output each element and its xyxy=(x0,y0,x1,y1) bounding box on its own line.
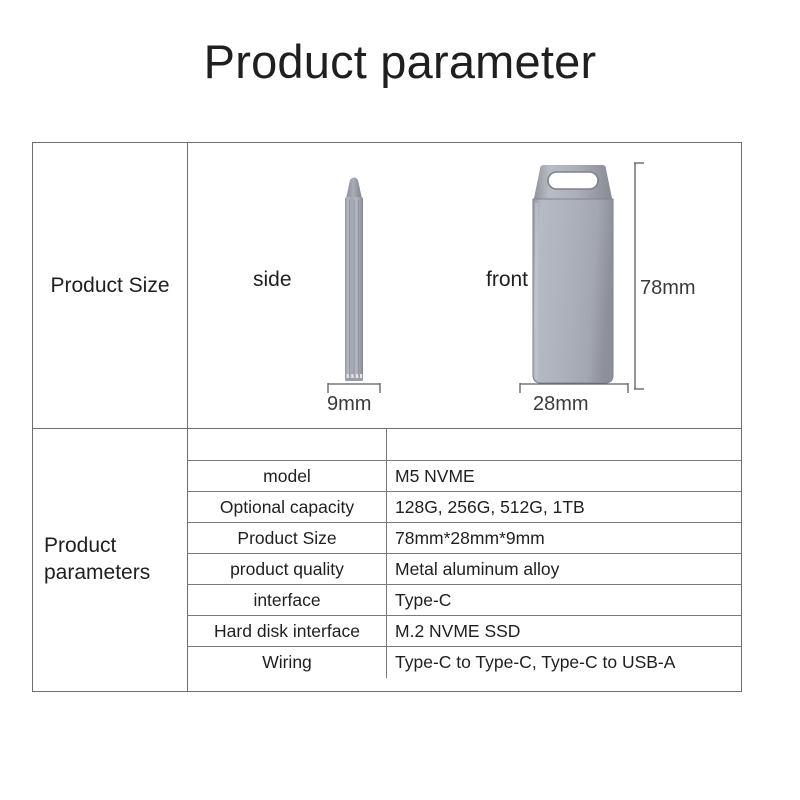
product-parameters-label-line2: parameters xyxy=(44,561,150,584)
product-parameters-label-text: Product parameters xyxy=(44,533,150,587)
parameters-grid: model M5 NVME Optional capacity 128G, 25… xyxy=(188,429,741,691)
parameters-header-row xyxy=(188,429,741,461)
table-row: Optional capacity 128G, 256G, 512G, 1TB xyxy=(188,492,741,523)
spec-table: Product Size side front xyxy=(32,142,742,692)
parameters-header-key xyxy=(188,429,387,460)
param-value-product-size: 78mm*28mm*9mm xyxy=(387,523,741,553)
param-value-optional-capacity: 128G, 256G, 512G, 1TB xyxy=(387,492,741,522)
side-view-illustration xyxy=(334,173,374,388)
side-width-dimension-label: 9mm xyxy=(327,393,371,416)
param-value-product-quality: Metal aluminum alloy xyxy=(387,554,741,584)
front-height-dimension-line xyxy=(632,161,646,391)
param-value-interface: Type-C xyxy=(387,585,741,615)
parameters-header-value xyxy=(387,429,741,460)
param-value-wiring: Type-C to Type-C, Type-C to USB-A xyxy=(387,647,741,678)
product-size-row-label: Product Size xyxy=(33,143,188,428)
param-key-optional-capacity: Optional capacity xyxy=(188,492,387,522)
param-key-hard-disk-interface: Hard disk interface xyxy=(188,616,387,646)
side-view-label: side xyxy=(253,268,292,292)
table-row: Wiring Type-C to Type-C, Type-C to USB-A xyxy=(188,647,741,678)
product-size-label-text: Product Size xyxy=(50,274,169,298)
product-size-figures: side front xyxy=(188,143,741,428)
param-value-hard-disk-interface: M.2 NVME SSD xyxy=(387,616,741,646)
product-parameters-section: Product parameters model M5 NVME Optiona… xyxy=(33,429,741,691)
front-view-illustration xyxy=(518,163,628,388)
page-title: Product parameter xyxy=(0,36,800,88)
table-row: Hard disk interface M.2 NVME SSD xyxy=(188,616,741,647)
table-row: Product Size 78mm*28mm*9mm xyxy=(188,523,741,554)
param-key-product-size: Product Size xyxy=(188,523,387,553)
param-key-wiring: Wiring xyxy=(188,647,387,678)
product-parameters-row-label: Product parameters xyxy=(33,429,188,691)
param-key-interface: interface xyxy=(188,585,387,615)
table-row: product quality Metal aluminum alloy xyxy=(188,554,741,585)
product-size-section: Product Size side front xyxy=(33,143,741,429)
front-width-dimension-label: 28mm xyxy=(533,393,589,416)
param-value-model: M5 NVME xyxy=(387,461,741,491)
front-height-dimension-label: 78mm xyxy=(640,277,696,300)
table-row: model M5 NVME xyxy=(188,461,741,492)
product-parameters-label-line1: Product xyxy=(44,534,116,557)
param-key-product-quality: product quality xyxy=(188,554,387,584)
table-row: interface Type-C xyxy=(188,585,741,616)
param-key-model: model xyxy=(188,461,387,491)
